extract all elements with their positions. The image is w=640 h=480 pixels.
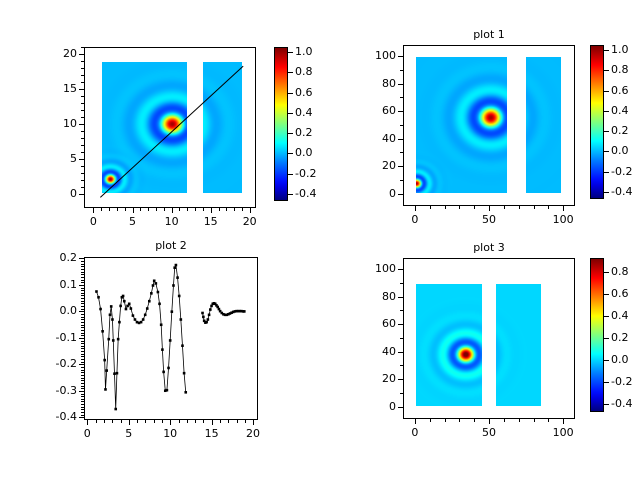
colorbar-tick-label: 0.6: [611, 287, 629, 300]
minor-tick-y: [81, 180, 84, 181]
ax1-patch-left: [416, 57, 507, 193]
minor-tick-y: [81, 166, 84, 167]
minor-tick-x: [195, 420, 196, 423]
minor-tick-x: [504, 419, 505, 422]
ytick-label: 40: [355, 132, 396, 145]
minor-tick-x: [237, 420, 238, 423]
ax2-segment-1-marker: [140, 321, 143, 324]
ax2-segment-1-marker: [101, 330, 104, 333]
plot1-colorbar-gradient: [591, 46, 603, 198]
ax0-patch-right: [203, 62, 242, 193]
minor-tick-y: [81, 264, 84, 265]
minor-tick-x: [534, 419, 535, 422]
minor-tick-x: [154, 420, 155, 423]
xtick-label: 100: [543, 213, 583, 226]
major-tick-y: [398, 352, 403, 353]
minor-tick-x: [504, 206, 505, 209]
major-tick-x: [93, 208, 94, 213]
ax2-segment-2-marker: [202, 316, 205, 319]
ax2-segment-1-marker: [107, 338, 110, 341]
major-tick-x: [212, 420, 213, 425]
ax2-segment-1-marker: [128, 303, 131, 306]
colorbar-tick-label: 1.0: [611, 43, 629, 56]
minor-tick-y: [81, 359, 84, 360]
minor-tick-x: [548, 206, 549, 209]
minor-tick-y: [81, 330, 84, 331]
major-tick-x: [489, 419, 490, 424]
minor-tick-y: [81, 404, 84, 405]
minor-tick-y: [81, 68, 84, 69]
plot2-title: plot 2: [84, 239, 258, 252]
ax2-segment-1-marker: [181, 344, 184, 347]
colorbar-tick: [604, 151, 609, 152]
minor-tick-y: [400, 338, 403, 339]
minor-tick-x: [519, 206, 520, 209]
minor-tick-y: [400, 152, 403, 153]
minor-tick-x: [137, 420, 138, 423]
ax2-segment-1-marker: [119, 305, 122, 308]
ytick-label: -0.1: [36, 331, 77, 344]
major-tick-y: [398, 56, 403, 57]
ytick-label: 20: [355, 372, 396, 385]
major-tick-y: [398, 139, 403, 140]
ytick-label: -0.3: [36, 384, 77, 397]
ax2-segment-1-marker: [125, 308, 128, 311]
colorbar-tick-label: 0.2: [295, 126, 313, 139]
xtick-label: 10: [152, 215, 192, 228]
ax2-segment-2-marker: [207, 318, 210, 321]
minor-tick-x: [162, 420, 163, 423]
ytick-label: 0.2: [36, 251, 77, 264]
plot1-colorbar[interactable]: [590, 45, 604, 199]
ax2-segment-1-marker: [123, 300, 126, 303]
major-tick-x: [129, 420, 130, 425]
minor-tick-x: [245, 420, 246, 423]
minor-tick-y: [81, 173, 84, 174]
major-tick-y: [79, 159, 84, 160]
minor-tick-x: [156, 208, 157, 211]
major-tick-y: [79, 391, 84, 392]
colorbar-tick-label: 0.4: [295, 106, 313, 119]
major-tick-y: [79, 258, 84, 259]
minor-tick-x: [430, 419, 431, 422]
major-tick-x: [211, 208, 212, 213]
ax2-segment-1-marker: [118, 321, 121, 324]
ax2-segment-1-marker: [155, 282, 158, 285]
ax2-segment-1-marker: [97, 296, 100, 299]
ytick-label: 0.1: [36, 278, 77, 291]
ax2-segment-1-marker: [104, 388, 107, 391]
minor-tick-y: [81, 348, 84, 349]
minor-tick-x: [179, 208, 180, 211]
minor-tick-x: [109, 208, 110, 211]
minor-tick-y: [400, 180, 403, 181]
ax2-segment-1-marker: [117, 338, 120, 341]
ax2-segment-1-marker: [172, 284, 175, 287]
xtick-label: 5: [109, 427, 149, 440]
xtick-label: 100: [543, 426, 583, 439]
ax2-segment-1-marker: [169, 339, 172, 342]
minor-tick-y: [81, 145, 84, 146]
ytick-label: 0: [36, 187, 77, 200]
minor-tick-x: [195, 208, 196, 211]
minor-tick-y: [400, 283, 403, 284]
xtick-label: 20: [230, 215, 270, 228]
ax2-segment-1-marker: [161, 348, 164, 351]
minor-tick-y: [81, 356, 84, 357]
ax2-segment-1-marker: [183, 372, 186, 375]
ytick-label: -0.4: [36, 410, 77, 423]
colorbar-tick: [604, 91, 609, 92]
ax2-segment-1-marker: [184, 391, 187, 394]
minor-tick-x: [445, 419, 446, 422]
colorbar-tick: [288, 133, 293, 134]
minor-tick-y: [81, 131, 84, 132]
ax2-segment-1-marker: [111, 318, 114, 321]
major-tick-y: [79, 364, 84, 365]
colorbar-tick: [604, 172, 609, 173]
ytick-label: 80: [355, 77, 396, 90]
major-tick-y: [398, 194, 403, 195]
plot3-axes[interactable]: [403, 258, 575, 419]
ax1-patch-right: [526, 57, 561, 193]
minor-tick-y: [81, 327, 84, 328]
ax2-segment-1-marker: [109, 314, 112, 317]
minor-tick-y: [81, 362, 84, 363]
minor-tick-y: [81, 383, 84, 384]
minor-tick-y: [81, 47, 84, 48]
figure-canvas: 0510152005101520 1.00.80.60.40.20.0-0.2-…: [0, 0, 640, 480]
major-tick-y: [398, 324, 403, 325]
minor-tick-y: [81, 341, 84, 342]
minor-tick-y: [81, 96, 84, 97]
xtick-label: 15: [192, 427, 232, 440]
minor-tick-x: [242, 208, 243, 211]
minor-tick-x: [117, 208, 118, 211]
ax2-segment-1-marker: [103, 359, 106, 362]
ytick-label: -0.2: [36, 357, 77, 370]
major-tick-y: [398, 111, 403, 112]
major-tick-x: [489, 206, 490, 211]
ax3-patch-right: [496, 284, 541, 406]
minor-tick-y: [81, 367, 84, 368]
plot0-axes[interactable]: [84, 47, 256, 208]
minor-tick-y: [400, 97, 403, 98]
minor-tick-y: [81, 298, 84, 299]
major-tick-x: [170, 420, 171, 425]
xtick-label: 0: [395, 426, 435, 439]
major-tick-y: [398, 407, 403, 408]
minor-tick-y: [81, 396, 84, 397]
minor-tick-x: [96, 420, 97, 423]
colorbar-tick: [604, 111, 609, 112]
ax2-segment-1-marker: [150, 292, 153, 295]
ax2-segment-2-marker: [209, 308, 212, 311]
major-tick-x: [563, 419, 564, 424]
colorbar-tick-label: 0.0: [611, 144, 629, 157]
minor-tick-x: [534, 206, 535, 209]
minor-tick-y: [81, 282, 84, 283]
minor-tick-y: [81, 290, 84, 291]
colorbar-tick: [604, 404, 609, 405]
ax2-segment-1-marker: [114, 408, 117, 411]
colorbar-tick-label: 0.8: [295, 65, 313, 78]
ax2-segment-1-marker: [130, 307, 133, 310]
plot1-title: plot 1: [403, 28, 575, 41]
ax2-segment-2-marker: [243, 310, 246, 313]
ax2-segment-1-marker: [122, 295, 125, 298]
colorbar-tick: [604, 316, 609, 317]
colorbar-tick-label: 0.8: [611, 265, 629, 278]
ax2-segment-2-marker: [208, 314, 211, 317]
minor-tick-x: [445, 206, 446, 209]
minor-tick-y: [81, 399, 84, 400]
major-tick-x: [172, 208, 173, 213]
minor-tick-y: [81, 309, 84, 310]
minor-tick-x: [203, 208, 204, 211]
major-tick-y: [79, 54, 84, 55]
minor-tick-y: [81, 333, 84, 334]
minor-tick-y: [81, 152, 84, 153]
xtick-label: 0: [395, 213, 435, 226]
xtick-label: 50: [469, 213, 509, 226]
minor-tick-y: [81, 335, 84, 336]
plot3-colorbar-gradient: [591, 259, 603, 411]
minor-tick-y: [81, 378, 84, 379]
ax2-segment-1-marker: [171, 310, 174, 313]
minor-tick-x: [474, 419, 475, 422]
ytick-label: 0: [355, 187, 396, 200]
minor-tick-y: [81, 394, 84, 395]
plot2-axes[interactable]: [84, 257, 258, 420]
ax2-segment-1-marker: [152, 284, 155, 287]
colorbar-tick: [604, 192, 609, 193]
minor-tick-x: [187, 208, 188, 211]
minor-tick-x: [104, 420, 105, 423]
minor-tick-y: [81, 266, 84, 267]
minor-tick-y: [81, 117, 84, 118]
major-tick-y: [79, 338, 84, 339]
colorbar-tick-label: -0.2: [295, 167, 316, 180]
ax3-patch-left: [416, 284, 482, 406]
minor-tick-y: [81, 110, 84, 111]
minor-tick-y: [81, 295, 84, 296]
minor-tick-x: [125, 208, 126, 211]
colorbar-tick: [288, 174, 293, 175]
ytick-label: 60: [355, 104, 396, 117]
minor-tick-y: [81, 412, 84, 413]
ax2-segment-1-marker: [112, 339, 115, 342]
ax2-segment-1-marker: [113, 372, 116, 375]
minor-tick-x: [226, 208, 227, 211]
ax2-segment-1-marker: [166, 389, 169, 392]
colorbar-tick-label: 0.0: [611, 353, 629, 366]
minor-tick-x: [101, 208, 102, 211]
ax2-segment-1-marker: [134, 318, 137, 321]
major-tick-y: [398, 379, 403, 380]
plot0-colorbar-gradient: [275, 48, 287, 200]
xtick-label: 15: [191, 215, 231, 228]
major-tick-y: [398, 269, 403, 270]
major-tick-x: [250, 208, 251, 213]
ax2-data-layer: [85, 258, 257, 419]
ytick-label: 100: [355, 262, 396, 275]
minor-tick-y: [81, 288, 84, 289]
colorbar-tick: [288, 93, 293, 94]
plot3-title: plot 3: [403, 241, 575, 254]
minor-tick-y: [81, 388, 84, 389]
xtick-label: 10: [150, 427, 190, 440]
colorbar-tick-label: -0.4: [295, 187, 316, 200]
minor-tick-y: [81, 325, 84, 326]
major-tick-x: [87, 420, 88, 425]
ax2-segment-1-marker: [160, 323, 163, 326]
ax2-segment-1-marker: [116, 372, 119, 375]
colorbar-tick: [604, 338, 609, 339]
major-tick-x: [133, 208, 134, 213]
minor-tick-y: [81, 317, 84, 318]
major-tick-y: [79, 417, 84, 418]
minor-tick-y: [81, 346, 84, 347]
ax2-segment-1-marker: [105, 369, 108, 372]
colorbar-tick: [288, 113, 293, 114]
major-tick-y: [398, 84, 403, 85]
minor-tick-y: [400, 310, 403, 311]
ax2-segment-1-marker: [173, 266, 176, 269]
minor-tick-y: [400, 365, 403, 366]
minor-tick-y: [81, 261, 84, 262]
colorbar-tick-label: 1.0: [295, 45, 313, 58]
minor-tick-y: [81, 274, 84, 275]
minor-tick-y: [81, 61, 84, 62]
minor-tick-x: [121, 420, 122, 423]
minor-tick-x: [203, 420, 204, 423]
minor-tick-x: [234, 208, 235, 211]
ax2-segment-1-marker: [153, 279, 156, 282]
major-tick-y: [79, 311, 84, 312]
minor-tick-y: [81, 138, 84, 139]
colorbar-tick-label: -0.4: [611, 185, 632, 198]
minor-tick-y: [81, 301, 84, 302]
colorbar-tick: [604, 70, 609, 71]
xtick-label: 0: [73, 215, 113, 228]
minor-tick-x: [548, 419, 549, 422]
colorbar-tick-label: 0.6: [611, 84, 629, 97]
plot3-colorbar[interactable]: [590, 258, 604, 412]
ytick-label: 40: [355, 345, 396, 358]
colorbar-tick: [288, 194, 293, 195]
minor-tick-y: [81, 306, 84, 307]
ax2-segment-1-marker: [175, 264, 178, 267]
minor-tick-y: [81, 343, 84, 344]
minor-tick-y: [81, 322, 84, 323]
ax2-segment-1-marker: [180, 318, 183, 321]
colorbar-tick: [288, 72, 293, 73]
ytick-label: 10: [36, 117, 77, 130]
minor-tick-x: [148, 208, 149, 211]
colorbar-tick: [604, 382, 609, 383]
plot1-axes[interactable]: [403, 45, 575, 206]
ytick-label: 0: [355, 400, 396, 413]
ax2-segment-1-marker: [144, 314, 147, 317]
ax2-segment-1-marker: [178, 295, 181, 298]
minor-tick-y: [81, 303, 84, 304]
colorbar-tick-label: -0.2: [611, 165, 632, 178]
minor-tick-y: [81, 401, 84, 402]
ax2-segment-1-marker: [157, 291, 160, 294]
ax2-segment-1-marker: [158, 303, 161, 306]
minor-tick-y: [81, 272, 84, 273]
colorbar-tick-label: 0.4: [611, 309, 629, 322]
colorbar-tick: [604, 131, 609, 132]
colorbar-tick-label: 0.6: [295, 86, 313, 99]
major-tick-y: [79, 194, 84, 195]
minor-tick-y: [400, 125, 403, 126]
minor-tick-x: [519, 419, 520, 422]
minor-tick-y: [81, 409, 84, 410]
minor-tick-x: [140, 208, 141, 211]
ax2-segment-1-marker: [110, 305, 113, 308]
ytick-label: 80: [355, 290, 396, 303]
ytick-label: 0.0: [36, 304, 77, 317]
minor-tick-x: [228, 420, 229, 423]
colorbar-tick: [604, 294, 609, 295]
ax2-segment-1-marker: [176, 276, 179, 279]
ytick-label: 15: [36, 82, 77, 95]
colorbar-tick-label: 0.2: [611, 124, 629, 137]
colorbar-tick: [288, 52, 293, 53]
ax2-segment-1-marker: [162, 371, 165, 374]
xtick-label: 20: [233, 427, 273, 440]
minor-tick-y: [81, 370, 84, 371]
ytick-label: 20: [36, 47, 77, 60]
ytick-label: 100: [355, 49, 396, 62]
minor-tick-y: [81, 82, 84, 83]
minor-tick-y: [81, 407, 84, 408]
minor-tick-x: [220, 420, 221, 423]
colorbar-tick-label: -0.2: [611, 375, 632, 388]
ytick-label: 5: [36, 152, 77, 165]
minor-tick-x: [474, 206, 475, 209]
major-tick-x: [563, 206, 564, 211]
minor-tick-y: [81, 269, 84, 270]
minor-tick-y: [81, 380, 84, 381]
minor-tick-y: [81, 314, 84, 315]
plot0-colorbar[interactable]: [274, 47, 288, 201]
minor-tick-y: [81, 277, 84, 278]
minor-tick-y: [81, 351, 84, 352]
minor-tick-x: [112, 420, 113, 423]
minor-tick-x: [430, 206, 431, 209]
minor-tick-y: [81, 75, 84, 76]
minor-tick-y: [81, 187, 84, 188]
ax2-segment-1-marker: [167, 367, 170, 370]
ax2-segment-1-marker: [142, 318, 145, 321]
minor-tick-y: [81, 375, 84, 376]
major-tick-y: [398, 297, 403, 298]
ax2-segment-1-marker: [146, 307, 149, 310]
minor-tick-x: [219, 208, 220, 211]
xtick-label: 0: [67, 427, 107, 440]
colorbar-tick: [604, 272, 609, 273]
colorbar-tick: [604, 50, 609, 51]
ytick-label: 60: [355, 317, 396, 330]
major-tick-x: [415, 206, 416, 211]
colorbar-tick: [604, 360, 609, 361]
colorbar-tick-label: 0.4: [611, 104, 629, 117]
minor-tick-y: [81, 280, 84, 281]
major-tick-y: [79, 89, 84, 90]
